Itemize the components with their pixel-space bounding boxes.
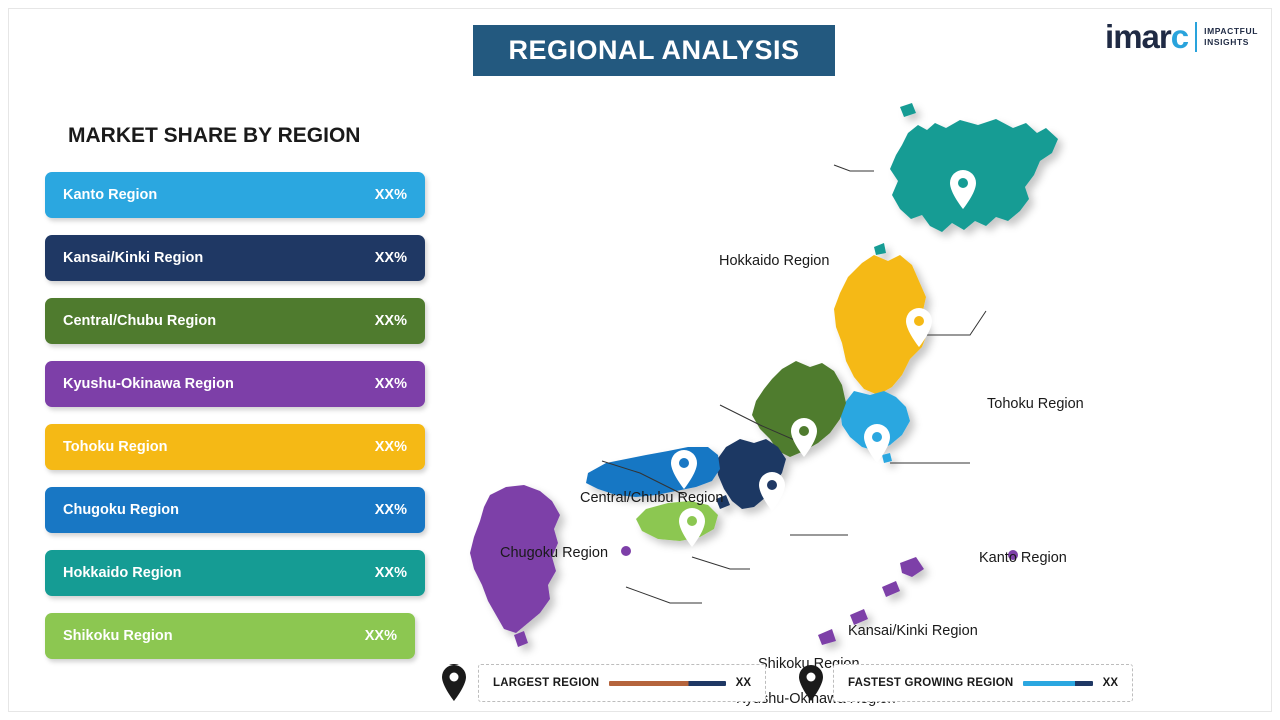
fastest-region-bar <box>1023 681 1092 686</box>
region-bar-row[interactable]: Central/Chubu RegionXX% <box>45 298 425 344</box>
largest-region-label: LARGEST REGION <box>493 677 599 689</box>
leader-tohoku <box>924 311 986 335</box>
region-hokkaido-islet2 <box>874 243 886 255</box>
region-bar-value: XX% <box>375 250 407 266</box>
fastest-region-pin-icon <box>797 664 825 702</box>
logo-tagline-line1: IMPACTFUL <box>1204 26 1258 37</box>
region-bar-value: XX% <box>375 187 407 203</box>
japan-map-svg <box>430 95 1260 665</box>
page-title-text: REGIONAL ANALYSIS <box>508 35 799 66</box>
fastest-region-box: FASTEST GROWING REGION XX <box>833 664 1133 702</box>
map-label-central-chubu: Central/Chubu Region <box>580 490 723 506</box>
region-bar-row[interactable]: Tohoku RegionXX% <box>45 424 425 470</box>
region-hokkaido[interactable] <box>890 119 1058 232</box>
map-label-chugoku: Chugoku Region <box>500 545 608 561</box>
leader-shikoku <box>692 557 750 569</box>
logo-divider <box>1195 22 1197 52</box>
region-bar-label: Central/Chubu Region <box>63 313 216 329</box>
logo-tagline: IMPACTFUL INSIGHTS <box>1204 26 1258 48</box>
logo-word-accent: c <box>1171 18 1188 55</box>
largest-region-pin-icon <box>440 664 468 702</box>
imarc-logo: imarc IMPACTFUL INSIGHTS <box>1105 18 1258 56</box>
logo-word-main: imar <box>1105 18 1171 55</box>
region-bar-label: Shikoku Region <box>63 628 173 644</box>
region-bar-row[interactable]: Chugoku RegionXX% <box>45 487 425 533</box>
fastest-region-value: XX <box>1103 677 1118 689</box>
region-bar-label: Kanto Region <box>63 187 157 203</box>
map-label-kansai-kinki: Kansai/Kinki Region <box>848 623 978 639</box>
fastest-region-label: FASTEST GROWING REGION <box>848 677 1013 689</box>
region-kanto-izu <box>882 453 892 463</box>
pin-kansai-kinki <box>759 472 785 511</box>
region-bar-row[interactable]: Kyushu-Okinawa RegionXX% <box>45 361 425 407</box>
region-okinawa[interactable] <box>900 557 924 577</box>
region-bar-label: Chugoku Region <box>63 502 179 518</box>
region-bar-row[interactable]: Kansai/Kinki RegionXX% <box>45 235 425 281</box>
region-kyushu-tail <box>514 631 528 647</box>
leader-hokkaido <box>834 165 874 171</box>
region-bar-value: XX% <box>375 502 407 518</box>
japan-map: Hokkaido Region Tohoku Region Central/Ch… <box>430 95 1260 655</box>
region-hokkaido-islet <box>900 103 916 117</box>
region-bar-value: XX% <box>365 628 397 644</box>
map-label-hokkaido: Hokkaido Region <box>719 253 829 269</box>
region-bar-row[interactable]: Shikoku RegionXX% <box>45 613 415 659</box>
logo-wordmark: imarc <box>1105 18 1188 56</box>
region-bar-row[interactable]: Kanto RegionXX% <box>45 172 425 218</box>
leader-kyushu <box>626 587 702 603</box>
region-shikoku[interactable] <box>636 501 718 541</box>
region-bar-list: Kanto RegionXX%Kansai/Kinki RegionXX%Cen… <box>45 172 435 676</box>
region-bar-value: XX% <box>375 439 407 455</box>
panel-heading: MARKET SHARE BY REGION <box>68 124 360 148</box>
region-bar-label: Tohoku Region <box>63 439 167 455</box>
region-bar-label: Kyushu-Okinawa Region <box>63 376 234 392</box>
region-bar-row[interactable]: Hokkaido RegionXX% <box>45 550 425 596</box>
region-bar-label: Hokkaido Region <box>63 565 181 581</box>
largest-region-bar <box>609 681 725 686</box>
region-bar-value: XX% <box>375 313 407 329</box>
logo-tagline-line2: INSIGHTS <box>1204 37 1258 48</box>
region-bar-label: Kansai/Kinki Region <box>63 250 203 266</box>
map-label-tohoku: Tohoku Region <box>987 396 1084 412</box>
largest-region-box: LARGEST REGION XX <box>478 664 766 702</box>
region-ryukyu-1 <box>882 581 900 597</box>
region-bar-value: XX% <box>375 376 407 392</box>
pin-kyushu <box>613 538 639 577</box>
largest-region-value: XX <box>736 677 751 689</box>
pin-shikoku <box>679 508 705 547</box>
map-label-kanto: Kanto Region <box>979 550 1067 566</box>
region-ryukyu-3 <box>818 629 836 645</box>
page-title: REGIONAL ANALYSIS <box>473 25 835 76</box>
region-bar-value: XX% <box>375 565 407 581</box>
